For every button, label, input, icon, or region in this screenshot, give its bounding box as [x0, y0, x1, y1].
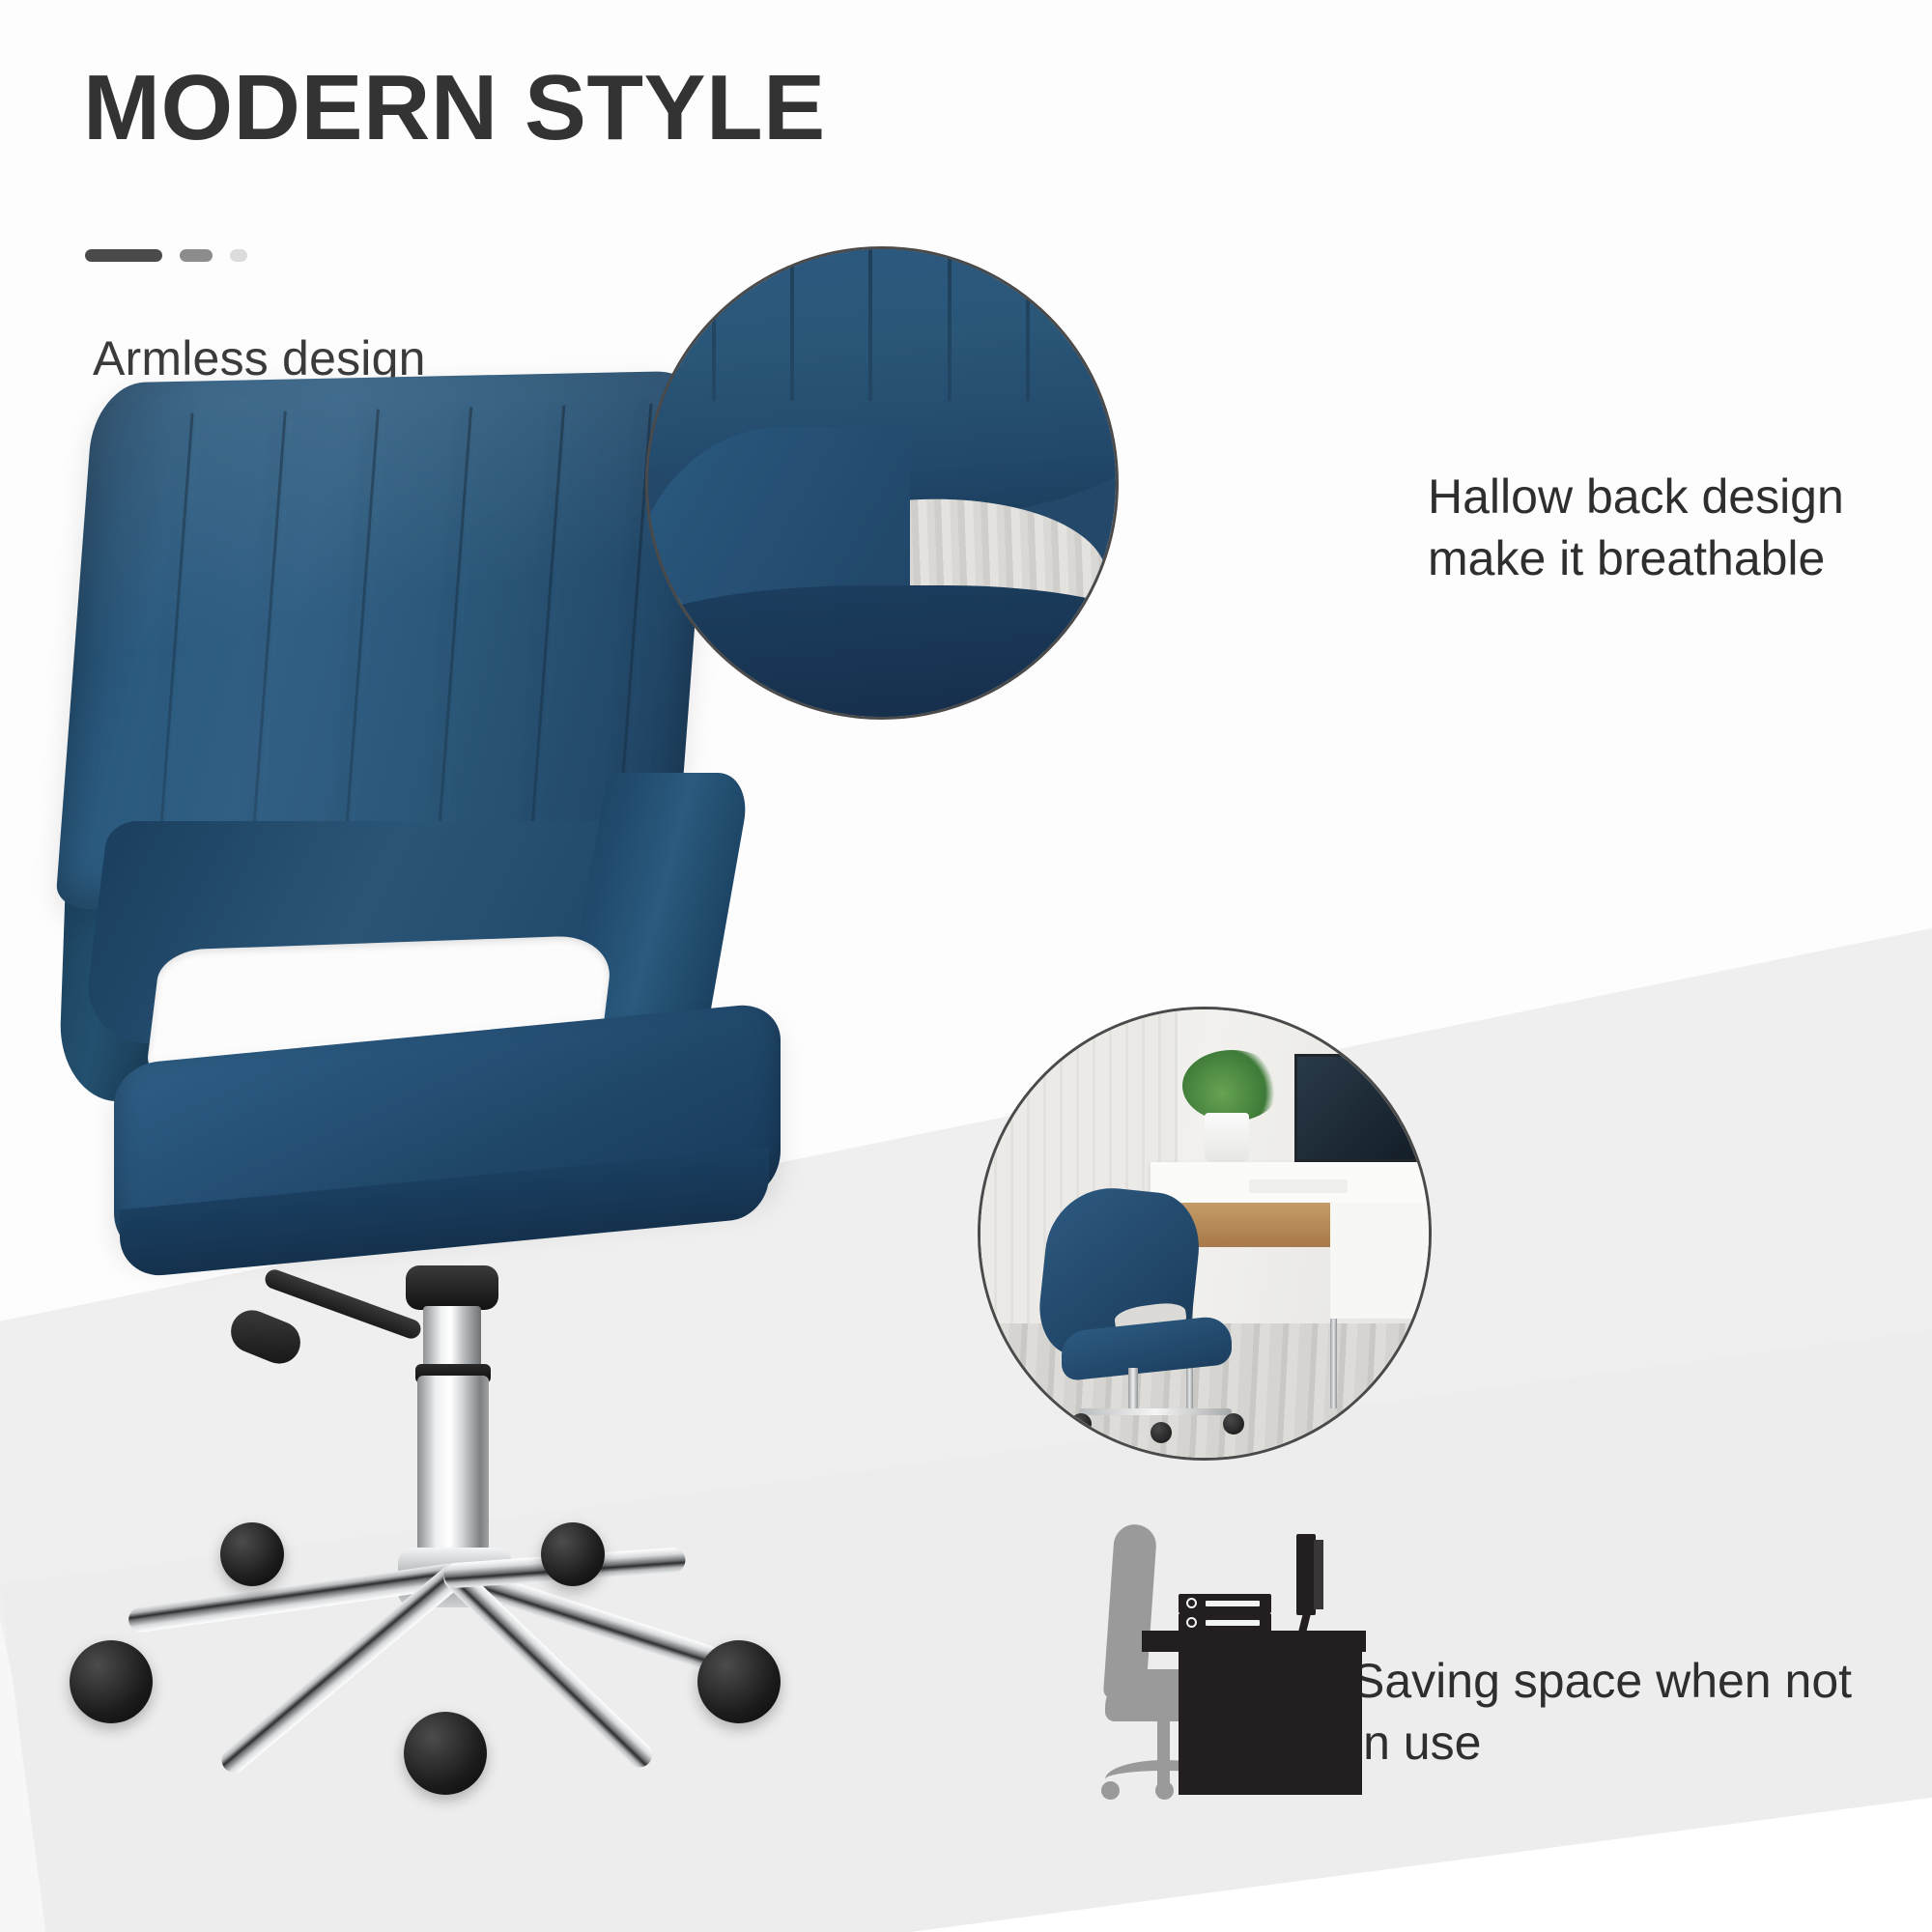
chair-caster: [220, 1522, 284, 1586]
inset-desk-cabinet: [1330, 1203, 1432, 1320]
divider: [85, 249, 247, 262]
pictogram-binder-label-icon: [1206, 1620, 1260, 1626]
inset-backrest-channel: [712, 246, 716, 401]
inset-hollow-seat: [645, 585, 1119, 720]
pictogram-binder-ring-icon: [1186, 1617, 1197, 1628]
inset-backrest-channel: [790, 246, 794, 401]
pictogram-chair-caster-icon: [1155, 1781, 1174, 1800]
inset-backrest-channel: [948, 246, 952, 401]
feature-label-saving-space: Saving space when not in use: [1352, 1650, 1855, 1774]
inset-photo-hollow-back: [645, 246, 1119, 720]
inset-chair-base: [1079, 1408, 1232, 1415]
inset-photo-desk-scene: [978, 1007, 1432, 1461]
chair-caster: [404, 1712, 487, 1795]
inset-desk-leg: [1330, 1319, 1337, 1408]
divider-dash-medium: [180, 249, 213, 262]
saving-space-pictogram-icon: [1082, 1488, 1391, 1806]
pictogram-desk-body-icon: [1179, 1650, 1362, 1795]
page-title: MODERN STYLE: [83, 60, 826, 157]
inset-desk-plant-icon: [1182, 1050, 1281, 1122]
chair-caster: [70, 1640, 153, 1723]
pictogram-monitor-side-icon: [1314, 1540, 1323, 1609]
inset-backrest-channel: [868, 246, 872, 401]
height-adjust-lever-knob: [224, 1304, 306, 1371]
chair-caster: [541, 1522, 605, 1586]
divider-dash-long: [85, 249, 162, 262]
pictogram-binder-ring-icon: [1186, 1598, 1197, 1608]
chair-swivel-mechanism: [406, 1265, 498, 1310]
inset-chair-gas-lift: [1128, 1368, 1138, 1412]
chair-caster: [697, 1640, 781, 1723]
inset-desk-monitor-icon: [1294, 1054, 1432, 1161]
inset-chair-caster: [1223, 1413, 1244, 1435]
pictogram-desk-top-icon: [1142, 1631, 1366, 1652]
pictogram-chair-caster-icon: [1101, 1781, 1120, 1800]
divider-dash-dot: [230, 249, 247, 262]
product-feature-graphic: MODERN STYLE Armless design Hallow back …: [0, 0, 1932, 1932]
pictogram-monitor-icon: [1296, 1534, 1316, 1615]
feature-label-hollow-back: Hallow back design make it breathable: [1428, 466, 1882, 589]
inset-chair-caster: [1070, 1413, 1092, 1435]
chair-gas-lift-cylinder: [417, 1376, 489, 1559]
inset-desk-plant-pot: [1205, 1113, 1249, 1162]
pictogram-binder-label-icon: [1206, 1601, 1260, 1606]
inset-backrest-channel: [1026, 246, 1030, 401]
inset-desk-keyboard-icon: [1249, 1179, 1348, 1193]
